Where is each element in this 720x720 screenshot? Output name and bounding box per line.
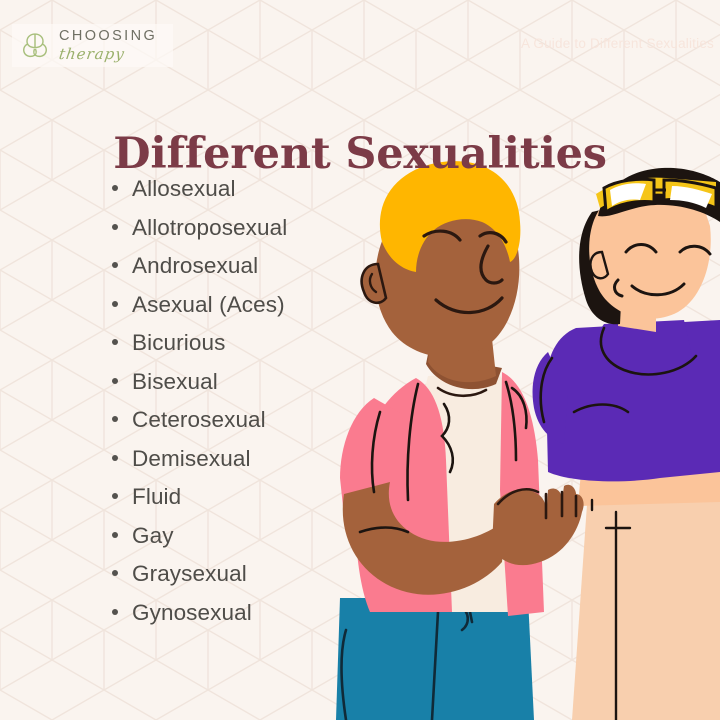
bullet-icon: [112, 532, 118, 538]
bullet-icon: [112, 262, 118, 268]
list-item: Allotroposexual: [112, 215, 287, 254]
logo-primary-text: CHOOSING: [59, 29, 157, 44]
list-item: Gay: [112, 523, 287, 562]
list-item-label: Demisexual: [132, 446, 251, 472]
bullet-icon: [112, 455, 118, 461]
list-item-label: Allosexual: [132, 176, 236, 202]
bullet-icon: [112, 224, 118, 230]
header-tagline: A Guide to Different Sexualities: [521, 36, 714, 51]
header-bar: CHOOSING therapy A Guide to Different Se…: [0, 0, 720, 76]
list-item: Graysexual: [112, 561, 287, 600]
sexualities-list: Allosexual Allotroposexual Androsexual A…: [112, 176, 287, 638]
list-item-label: Gynosexual: [132, 600, 252, 626]
list-item: Asexual (Aces): [112, 292, 287, 331]
list-item: Allosexual: [112, 176, 287, 215]
list-item-label: Graysexual: [132, 561, 247, 587]
bullet-icon: [112, 339, 118, 345]
person-with-yellow-hair: [336, 161, 584, 720]
list-item-label: Asexual (Aces): [132, 292, 285, 318]
list-item: Gynosexual: [112, 600, 287, 639]
person-with-sunglasses: [533, 168, 720, 720]
bullet-icon: [112, 570, 118, 576]
list-item-label: Bicurious: [132, 330, 225, 356]
bullet-icon: [112, 609, 118, 615]
list-item-label: Fluid: [132, 484, 181, 510]
list-item: Demisexual: [112, 446, 287, 485]
bullet-icon: [112, 416, 118, 422]
list-item: Androsexual: [112, 253, 287, 292]
poster-canvas: CHOOSING therapy A Guide to Different Se…: [0, 0, 720, 720]
list-item: Bicurious: [112, 330, 287, 369]
page-title: Different Sexualities: [0, 129, 720, 179]
list-item-label: Allotroposexual: [132, 215, 287, 241]
bullet-icon: [112, 301, 118, 307]
list-item-label: Ceterosexual: [132, 407, 266, 433]
list-item: Bisexual: [112, 369, 287, 408]
bullet-icon: [112, 378, 118, 384]
list-item: Ceterosexual: [112, 407, 287, 446]
list-item-label: Gay: [132, 523, 174, 549]
two-people-illustration: [320, 160, 720, 720]
bullet-icon: [112, 185, 118, 191]
list-item: Fluid: [112, 484, 287, 523]
logo-secondary-text: therapy: [58, 47, 158, 62]
bullet-icon: [112, 493, 118, 499]
list-item-label: Androsexual: [132, 253, 258, 279]
list-item-label: Bisexual: [132, 369, 218, 395]
leaf-logo-icon: [18, 29, 52, 61]
brand-logo[interactable]: CHOOSING therapy: [12, 24, 173, 67]
